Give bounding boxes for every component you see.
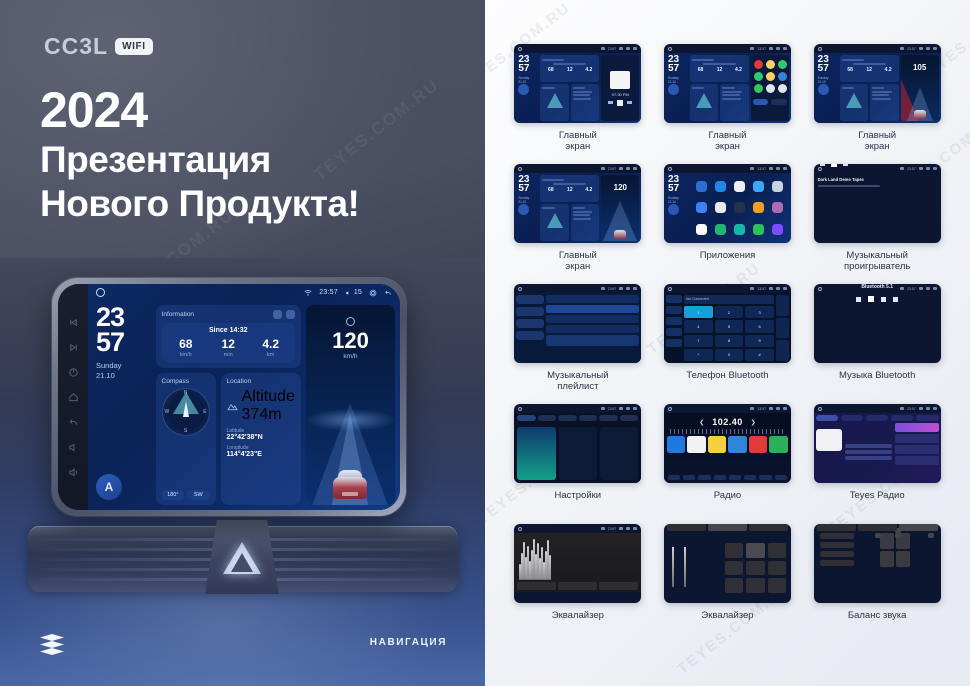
- gallery-item[interactable]: 23:57Баланс звука: [806, 524, 948, 644]
- preset-button[interactable]: [725, 543, 743, 558]
- app-icon[interactable]: [734, 202, 745, 213]
- information-card[interactable]: Information Since 14:32: [156, 305, 301, 368]
- back-arrow-icon[interactable]: [933, 47, 937, 50]
- playlist-sidebar[interactable]: [516, 295, 544, 361]
- refresh-icon[interactable]: [273, 310, 282, 319]
- call-actions[interactable]: [776, 295, 789, 361]
- navigation-widget[interactable]: 120: [601, 175, 639, 241]
- compass-title: Compass: [162, 378, 189, 385]
- dial-key[interactable]: *: [684, 349, 713, 361]
- preset-button[interactable]: [749, 436, 768, 453]
- status-bar: 23:57: [514, 284, 641, 293]
- eq-tabs[interactable]: [667, 524, 788, 531]
- clock-date: Sunday21.10: [668, 196, 688, 204]
- power-icon[interactable]: [68, 367, 79, 378]
- screen-thumbnail[interactable]: 23:572357Sunday21.1068124.207:30 PM: [514, 44, 641, 123]
- gallery-item[interactable]: 23:57Not Connected123456789*0#Телефон Bl…: [657, 284, 799, 404]
- dial-key[interactable]: #: [745, 349, 774, 361]
- gear-icon[interactable]: [626, 407, 630, 410]
- status-time: 23:57: [757, 287, 766, 291]
- next-station-icon[interactable]: ❯: [751, 419, 756, 426]
- sidebar-item: [516, 331, 544, 340]
- more-tile[interactable]: [600, 427, 638, 480]
- head-unit-display[interactable]: 23:57 15 23 57 S: [88, 284, 400, 510]
- back-arrow-icon[interactable]: [783, 407, 787, 410]
- screen-thumbnail[interactable]: 23:572357Sunday21.1068124.2120: [514, 164, 641, 243]
- settings-tiles[interactable]: [514, 425, 641, 483]
- screen-thumbnail[interactable]: 23:57❮102.40❯: [664, 404, 791, 483]
- dial-key[interactable]: 8: [715, 335, 744, 347]
- next-track-icon: [893, 297, 898, 302]
- screen-thumbnail[interactable]: 23:57: [814, 524, 941, 603]
- tab: [538, 415, 557, 421]
- wifi-icon: [750, 167, 754, 170]
- sidebar-item: [666, 328, 682, 336]
- gear-icon[interactable]: [926, 167, 930, 170]
- list-item[interactable]: [895, 423, 939, 432]
- dial-key[interactable]: 4: [684, 320, 713, 332]
- thumbnail-caption: Teyes Радио: [850, 490, 905, 501]
- stat-duration: 12 min: [207, 338, 249, 358]
- wifi-icon: [304, 289, 312, 297]
- balance-presets[interactable]: [820, 533, 854, 569]
- home-icon[interactable]: [518, 47, 522, 51]
- app-icon[interactable]: [734, 181, 745, 192]
- volume-up-icon[interactable]: [68, 467, 79, 478]
- speed-display: 120 km/h: [306, 317, 395, 360]
- location-card[interactable]: [571, 204, 600, 241]
- toolbar-button[interactable]: [683, 475, 695, 480]
- gear-icon[interactable]: [926, 287, 930, 290]
- app-icon[interactable]: [715, 181, 726, 192]
- volume-icon: [769, 287, 773, 290]
- dial-pad[interactable]: 123456789*0#: [684, 306, 774, 361]
- app-icon[interactable]: [778, 60, 787, 69]
- status-bar: 23:57: [664, 44, 791, 53]
- dial-key[interactable]: 6: [745, 320, 774, 332]
- presentation-slide: TEYES.COM.RU TEYES.COM.RU TEYES.COM.RU T…: [0, 0, 970, 686]
- screen-thumbnail[interactable]: 23:57: [814, 404, 941, 483]
- app-icon[interactable]: [778, 72, 787, 81]
- tab[interactable]: [891, 415, 913, 421]
- app-grid[interactable]: [690, 175, 789, 241]
- home-icon[interactable]: [518, 167, 522, 171]
- dial-key[interactable]: 0: [715, 349, 744, 361]
- right-button[interactable]: [928, 533, 934, 538]
- home-icon[interactable]: [668, 287, 672, 291]
- compass-card[interactable]: [690, 84, 719, 121]
- headline-line1: Презентация: [40, 139, 359, 181]
- toolbar-button[interactable]: [729, 475, 741, 480]
- widget-column: 68124.2: [540, 55, 599, 121]
- layers-icon: [40, 634, 64, 656]
- preset-button[interactable]: [687, 436, 706, 453]
- album-art: [816, 429, 842, 451]
- toolbar-button[interactable]: [744, 475, 756, 480]
- back-arrow-icon[interactable]: [783, 287, 787, 290]
- page-title: 2024 Презентация Нового Продукта!: [40, 84, 359, 225]
- toolbar-button[interactable]: [775, 475, 787, 480]
- slider: [672, 547, 674, 587]
- dial-key[interactable]: 5: [715, 320, 744, 332]
- tab[interactable]: [816, 415, 838, 421]
- volume-icon: [919, 407, 923, 410]
- expand-icon[interactable]: [286, 310, 295, 319]
- gear-icon[interactable]: [626, 527, 630, 530]
- wifi-tile[interactable]: [517, 427, 555, 480]
- status-time: 23:57: [608, 407, 617, 411]
- dial-key[interactable]: 3: [745, 306, 774, 318]
- gallery-item[interactable]: 23:572357Sunday21.1068124.2105Главныйэкр…: [806, 44, 948, 164]
- compass-dial: N S E W: [162, 388, 210, 436]
- preset-button[interactable]: [725, 578, 743, 593]
- back-arrow-icon[interactable]: [933, 287, 937, 290]
- app-icon[interactable]: [778, 84, 787, 93]
- wifi-icon: [601, 47, 605, 50]
- screen-thumbnail[interactable]: 23:57: [514, 284, 641, 363]
- compass-dial: [696, 93, 712, 108]
- navigation-widget[interactable]: 120 km/h: [306, 305, 395, 505]
- preset-button[interactable]: [725, 561, 743, 576]
- toolbar-button[interactable]: [668, 475, 680, 480]
- screen-thumbnail[interactable]: 23:57: [514, 524, 641, 603]
- back-arrow-icon[interactable]: [633, 167, 637, 170]
- status-bar: 23:57: [664, 284, 791, 293]
- avatar[interactable]: [668, 204, 679, 215]
- gear-icon[interactable]: [626, 167, 630, 170]
- back-arrow-icon[interactable]: [633, 287, 637, 290]
- widget-column: 68124.2: [840, 55, 899, 121]
- preset-button[interactable]: [728, 436, 747, 453]
- avatar[interactable]: A: [96, 474, 122, 500]
- thumbnail-caption: Радио: [714, 490, 741, 501]
- screen-thumbnail[interactable]: 23:572357Sunday21.1068124.2: [664, 44, 791, 123]
- tab[interactable]: [841, 415, 863, 421]
- player-bar: [546, 335, 639, 346]
- navigation-widget[interactable]: 105: [901, 55, 939, 121]
- preset-grid[interactable]: [725, 543, 786, 593]
- location-card[interactable]: Location Altitude 374m: [221, 373, 301, 505]
- status-time: 23:57: [907, 407, 916, 411]
- app-shortcuts[interactable]: [751, 55, 789, 121]
- gallery-item[interactable]: 23:572357Sunday21.1068124.2120Главныйэкр…: [507, 164, 649, 284]
- trip-stats: 68124.2: [842, 67, 897, 73]
- gear-icon[interactable]: [369, 289, 377, 297]
- app-icon[interactable]: [754, 72, 763, 81]
- screen-thumbnail[interactable]: 23:57: [514, 404, 641, 483]
- screen-thumbnail[interactable]: 23:572357Sunday21.1068124.2105: [814, 44, 941, 123]
- screen-thumbnail[interactable]: 23:57Not Connected123456789*0#: [664, 284, 791, 363]
- stop-icon: [881, 297, 886, 302]
- information-card[interactable]: 68124.2: [690, 55, 749, 82]
- app-icon[interactable]: [754, 84, 763, 93]
- home-icon[interactable]: [68, 392, 79, 403]
- back-arrow-icon[interactable]: [933, 167, 937, 170]
- volume-icon: [919, 287, 923, 290]
- hotspot-tile[interactable]: [559, 427, 597, 480]
- screen-thumbnail[interactable]: 23:57: [664, 524, 791, 603]
- volume-indicator[interactable]: 15: [345, 289, 362, 296]
- preset-button[interactable]: [667, 436, 686, 453]
- preset-button[interactable]: [768, 561, 786, 576]
- gallery-item[interactable]: 23:57Dark Land Demo TapesМузыкальныйпрои…: [806, 164, 948, 284]
- home-icon[interactable]: [818, 167, 822, 171]
- app-icon[interactable]: [753, 202, 764, 213]
- volume-icon: [619, 287, 623, 290]
- info-line: [845, 450, 892, 454]
- prev-station-icon[interactable]: ❮: [699, 419, 704, 426]
- location-card[interactable]: [571, 84, 600, 121]
- compass-direction: SW: [187, 490, 210, 500]
- volume-icon: [769, 167, 773, 170]
- app-icon[interactable]: [696, 181, 707, 192]
- home-icon[interactable]: [818, 287, 822, 291]
- home-icon[interactable]: [668, 167, 672, 171]
- tab[interactable]: [866, 415, 888, 421]
- toolbar-button[interactable]: [714, 475, 726, 480]
- preset-button[interactable]: [769, 436, 788, 453]
- thumbnail-caption: Приложения: [700, 250, 756, 261]
- back-arrow-icon[interactable]: [384, 289, 392, 297]
- wifi-icon: [900, 287, 904, 290]
- back-arrow-icon[interactable]: [783, 47, 787, 50]
- volume-down-icon[interactable]: [68, 442, 79, 453]
- car-icon: [914, 110, 926, 119]
- list-item: [546, 325, 639, 333]
- home-icon[interactable]: [96, 288, 105, 297]
- trip-since-label: Since 14:32: [165, 327, 292, 334]
- compass-card[interactable]: Compass N S E W: [156, 373, 216, 505]
- gear-icon[interactable]: [776, 287, 780, 290]
- information-card[interactable]: 68124.2: [540, 175, 599, 202]
- gallery-item[interactable]: 23:57Эквалайзер: [507, 524, 649, 644]
- compass-card[interactable]: [540, 84, 569, 121]
- screen-thumbnail[interactable]: 23:57Dark Land Demo Tapes: [814, 164, 941, 243]
- volume-icon: [769, 47, 773, 50]
- track-list[interactable]: [546, 295, 639, 361]
- dial-key[interactable]: 7: [684, 335, 713, 347]
- thumbnail-caption: Главныйэкран: [559, 250, 597, 272]
- status-bar: 23:57: [514, 44, 641, 53]
- list-item[interactable]: [895, 434, 939, 443]
- volume-icon: [619, 47, 623, 50]
- status-bar: 23:57: [514, 164, 641, 173]
- location-card[interactable]: [720, 84, 749, 121]
- compass-card[interactable]: [840, 84, 869, 121]
- gallery-item[interactable]: 23:572357Sunday21.1068124.2Главныйэкран: [657, 44, 799, 164]
- thumbnail-caption: Музыка Bluetooth: [839, 370, 915, 381]
- thumbnail-caption: Эквалайзер: [701, 610, 753, 621]
- speed-unit: km/h: [306, 353, 395, 360]
- gear-icon[interactable]: [626, 47, 630, 50]
- back-arrow-icon[interactable]: [783, 167, 787, 170]
- gear-icon[interactable]: [776, 407, 780, 410]
- clock-minutes: 57: [93, 330, 151, 355]
- app-icon[interactable]: [715, 224, 726, 235]
- status-time: 23:57: [757, 47, 766, 51]
- gallery-item[interactable]: 23:572357Sunday21.10Приложения: [657, 164, 799, 284]
- home-icon[interactable]: [518, 407, 522, 411]
- thumbnail-caption: Настройки: [555, 490, 602, 501]
- gallery-item[interactable]: 23:57❮102.40❯Радио: [657, 404, 799, 524]
- next-track-icon[interactable]: [68, 342, 79, 353]
- home-icon[interactable]: [518, 527, 522, 531]
- list-item[interactable]: [895, 456, 939, 465]
- app-icon[interactable]: [772, 202, 783, 213]
- toolbar-button[interactable]: [698, 475, 710, 480]
- gallery-item[interactable]: 23:57Музыкальныйплейлист: [507, 284, 649, 404]
- left-button[interactable]: [875, 533, 881, 538]
- clock-widget: 2357Sunday21.10: [816, 55, 838, 121]
- thumbnail-caption: Главныйэкран: [858, 130, 896, 152]
- app-icon[interactable]: [766, 84, 775, 93]
- gallery-item[interactable]: 23:57Эквалайзер: [657, 524, 799, 644]
- head-unit-bezel: 23:57 15 23 57 S: [52, 278, 406, 516]
- volume-icon: [345, 290, 351, 296]
- station-presets[interactable]: [664, 436, 791, 453]
- app-icon[interactable]: [772, 224, 783, 235]
- preset-button[interactable]: [768, 543, 786, 558]
- back-arrow-icon[interactable]: [633, 407, 637, 410]
- eq-tabs[interactable]: [817, 524, 938, 531]
- side-button-strip[interactable]: [58, 284, 88, 510]
- car-dashboard: 23:57 15 23 57 S: [0, 258, 485, 686]
- app-icon[interactable]: [753, 181, 764, 192]
- avatar[interactable]: [818, 84, 829, 95]
- compass-card[interactable]: [540, 204, 569, 241]
- preset-button[interactable]: [768, 578, 786, 593]
- dial-key[interactable]: 9: [745, 335, 774, 347]
- preset-button[interactable]: [746, 578, 764, 593]
- home-icon[interactable]: [518, 287, 522, 291]
- avatar[interactable]: [668, 84, 679, 95]
- dial-key[interactable]: 1: [684, 306, 713, 318]
- volume-icon: [619, 167, 623, 170]
- gallery-item[interactable]: 23:57Teyes Радио: [806, 404, 948, 524]
- eq-sliders[interactable]: [672, 547, 686, 587]
- settings-tabs[interactable]: [514, 413, 641, 423]
- gear-icon[interactable]: [776, 47, 780, 50]
- prev-track-icon: [856, 297, 861, 302]
- app-icon[interactable]: [753, 224, 764, 235]
- status-bar: 23:57 15: [88, 284, 400, 301]
- action-button: [776, 295, 789, 316]
- avatar[interactable]: [518, 84, 529, 95]
- app-icon[interactable]: [766, 60, 775, 69]
- gear-icon[interactable]: [926, 407, 930, 410]
- home-icon[interactable]: [818, 407, 822, 411]
- volume-icon: [619, 407, 623, 410]
- app-icon[interactable]: [766, 72, 775, 81]
- phone-sidebar[interactable]: [666, 295, 682, 361]
- preset-button[interactable]: [746, 543, 764, 558]
- app-icon[interactable]: [696, 224, 707, 235]
- screen-thumbnail[interactable]: 23:572357Sunday21.10: [664, 164, 791, 243]
- status-time: 23:57: [907, 167, 916, 171]
- tab[interactable]: [916, 415, 938, 421]
- location-card[interactable]: [870, 84, 899, 121]
- hazard-light-button[interactable]: [205, 520, 279, 594]
- app-icon[interactable]: [715, 202, 726, 213]
- prev-track-icon[interactable]: [68, 317, 79, 328]
- back-arrow-icon[interactable]: [68, 417, 79, 428]
- action-button: [776, 340, 789, 361]
- clock-date: 21.10: [93, 371, 151, 381]
- home-icon[interactable]: [668, 47, 672, 51]
- toolbar-button[interactable]: [759, 475, 771, 480]
- nav-footer-label: НАВИГАЦИЯ: [370, 637, 447, 648]
- status-bar: 23:57: [514, 404, 641, 413]
- home-icon[interactable]: [818, 47, 822, 51]
- information-card[interactable]: 68124.2: [540, 55, 599, 82]
- information-card[interactable]: 68124.2: [840, 55, 899, 82]
- gear-icon[interactable]: [776, 167, 780, 170]
- compass-dial: [547, 93, 563, 108]
- app-icon[interactable]: [754, 60, 763, 69]
- widget-column: 68124.2: [690, 55, 749, 121]
- list-item[interactable]: [895, 445, 939, 454]
- volume-icon: [919, 47, 923, 50]
- gallery-item[interactable]: 23:572357Sunday21.1068124.207:30 PMГлавн…: [507, 44, 649, 164]
- track-title: Dark Land Demo Tapes: [818, 177, 880, 182]
- headline-year: 2024: [40, 84, 359, 137]
- cruise-icon: [346, 317, 355, 326]
- stat-speed: 68 km/h: [165, 338, 207, 358]
- information-title: Information: [162, 311, 195, 318]
- screen-thumbnail[interactable]: 23:57Bluetooth 5.1: [814, 284, 941, 363]
- back-arrow-icon[interactable]: [933, 407, 937, 410]
- gear-icon[interactable]: [926, 47, 930, 50]
- gallery-item[interactable]: 23:57Настройки: [507, 404, 649, 524]
- gear-icon[interactable]: [626, 287, 630, 290]
- status-time: 23:57: [757, 407, 766, 411]
- app-icon[interactable]: [772, 181, 783, 192]
- home-icon[interactable]: [668, 407, 672, 411]
- tuner-scale[interactable]: [670, 429, 785, 434]
- front-button[interactable]: [895, 533, 901, 538]
- back-arrow-icon[interactable]: [633, 527, 637, 530]
- avatar[interactable]: [518, 204, 529, 215]
- eq-tabs[interactable]: [517, 582, 638, 590]
- preset-button[interactable]: [708, 436, 727, 453]
- sidebar-item: [666, 317, 682, 325]
- list-item: [546, 305, 639, 313]
- wifi-icon: [750, 287, 754, 290]
- tab: [517, 415, 536, 421]
- preset-button[interactable]: [746, 561, 764, 576]
- clock-date: Sunday21.10: [668, 76, 688, 84]
- back-arrow-icon[interactable]: [633, 47, 637, 50]
- location-title: Location: [227, 378, 252, 385]
- dial-key[interactable]: 2: [715, 306, 744, 318]
- wifi-icon: [750, 407, 754, 410]
- balance-pad[interactable]: [880, 533, 910, 567]
- prev-track-icon: [820, 164, 825, 166]
- app-icon[interactable]: [734, 224, 745, 235]
- widget-column: Information Since 14:32: [156, 305, 301, 505]
- app-icon[interactable]: [696, 202, 707, 213]
- clock-widget[interactable]: 23 57 Sunday 21.10 A: [93, 305, 151, 505]
- eq-band[interactable]: [549, 555, 551, 580]
- thumbnail-grid: 23:572357Sunday21.1068124.207:30 PMГлавн…: [485, 0, 970, 644]
- gallery-item[interactable]: 23:57Bluetooth 5.1Музыка Bluetooth: [806, 284, 948, 404]
- media-time: 07:30 PM: [612, 92, 629, 97]
- sidebar-item: [516, 319, 544, 328]
- status-time: 23:57: [907, 287, 916, 291]
- tab: [599, 415, 618, 421]
- media-widget[interactable]: 07:30 PM: [601, 55, 639, 121]
- volume-icon: [919, 167, 923, 170]
